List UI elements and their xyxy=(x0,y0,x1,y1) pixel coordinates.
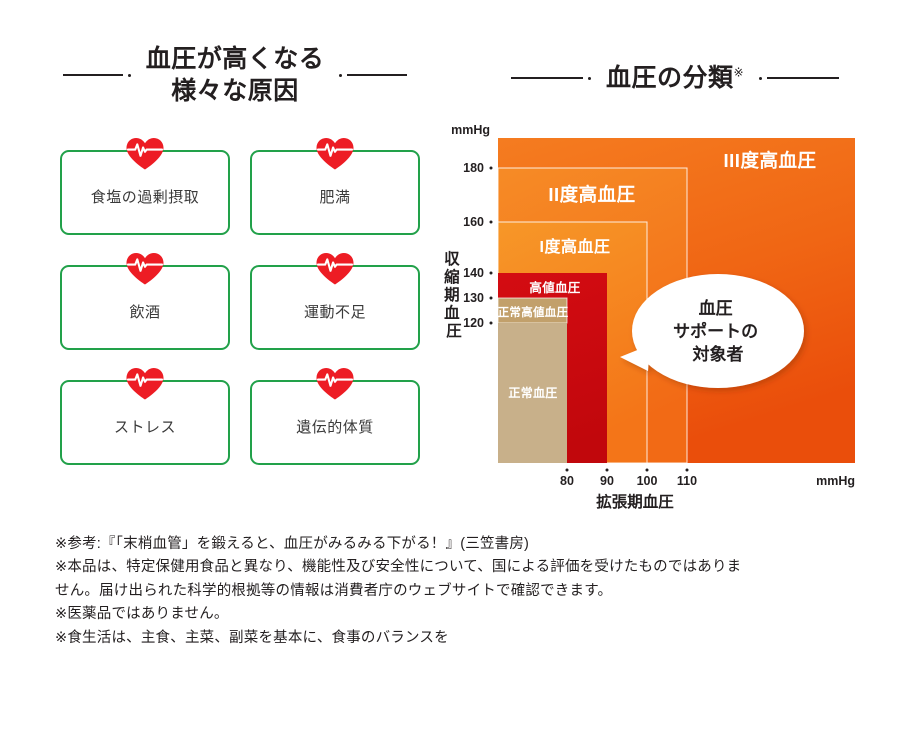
cause-card[interactable]: 食塩の過剰摂取 xyxy=(60,150,230,235)
y-tick-140: 140 xyxy=(463,266,484,280)
cause-label: 食塩の過剰摂取 xyxy=(91,186,200,207)
heading-classification-label: 血圧の分類 xyxy=(606,64,734,92)
footnote-line: ※本品は、特定保健用食品と異なり、機能性及び安全性について、国による評価を受けた… xyxy=(55,556,875,579)
cause-label: 肥満 xyxy=(319,186,350,207)
y-tick-160: 160 xyxy=(463,215,484,229)
band-label-normal: 正常血圧 xyxy=(508,385,557,400)
heart-pulse-icon xyxy=(314,366,356,400)
heart-pulse-icon xyxy=(124,136,166,170)
blood-pressure-classification-chart: III度高血圧 II度高血圧 I度高血圧 高値血圧 正常高値血圧 正常血圧 mm… xyxy=(440,125,900,520)
cause-label: 飲酒 xyxy=(129,301,160,322)
x-tick-dot xyxy=(686,469,689,472)
footnote-line: ※食生活は、主食、主菜、副菜を基本に、食事のバランスを xyxy=(55,627,875,650)
heading-dot-left xyxy=(128,74,131,77)
cause-card[interactable]: 遺伝的体質 xyxy=(250,380,420,465)
cause-card[interactable]: 肥満 xyxy=(250,150,420,235)
cause-label: 遺伝的体質 xyxy=(296,416,374,437)
y-tick-dot xyxy=(490,272,493,275)
causes-grid: 食塩の過剰摂取 肥満 飲酒 運動不足 xyxy=(60,150,420,465)
heading-reference-mark: ※ xyxy=(733,65,744,79)
heading-causes: 血圧が高くなる 様々な原因 xyxy=(20,38,450,112)
x-tick-dot xyxy=(606,469,609,472)
band-label-high-normal-high: 高値血圧 xyxy=(529,280,580,295)
y-axis-unit: mmHg xyxy=(451,125,490,137)
y-tick-dot xyxy=(490,322,493,325)
cause-card[interactable]: ストレス xyxy=(60,380,230,465)
band-label-elevated: 正常高値血圧 xyxy=(498,305,569,319)
y-tick-130: 130 xyxy=(463,291,484,305)
footnote-line: せん。届け出られた科学的根拠等の情報は消費者庁のウェブサイトで確認できます。 xyxy=(55,580,875,603)
x-tick-100: 100 xyxy=(637,474,658,488)
y-tick-180: 180 xyxy=(463,161,484,175)
heading-causes-text: 血圧が高くなる 様々な原因 xyxy=(136,43,335,108)
cause-label: ストレス xyxy=(114,416,176,437)
footnote-line: ※参考:『「末梢血管」を鍛えると、血圧がみるみる下がる！』(三笠書房) xyxy=(55,533,875,556)
cause-card[interactable]: 飲酒 xyxy=(60,265,230,350)
headings-row: 血圧が高くなる 様々な原因 血圧の分類※ xyxy=(0,0,900,120)
footnotes: ※参考:『「末梢血管」を鍛えると、血圧がみるみる下がる！』(三笠書房) ※本品は… xyxy=(55,533,875,650)
heading-dot-right xyxy=(759,77,762,80)
x-tick-dot xyxy=(566,469,569,472)
x-tick-110: 110 xyxy=(677,474,697,488)
y-tick-120: 120 xyxy=(463,316,484,330)
heading-classification-text: 血圧の分類※ xyxy=(596,62,754,95)
band-label-grade3: III度高血圧 xyxy=(724,150,817,171)
heart-pulse-icon xyxy=(314,251,356,285)
cause-card[interactable]: 運動不足 xyxy=(250,265,420,350)
band-label-grade1: I度高血圧 xyxy=(540,237,611,256)
heart-pulse-icon xyxy=(314,136,356,170)
heading-rule-right xyxy=(767,77,839,79)
heart-pulse-icon xyxy=(124,366,166,400)
heading-dot-left xyxy=(588,77,591,80)
heading-rule-left xyxy=(63,74,123,76)
y-tick-dot xyxy=(490,167,493,170)
heading-rule-left xyxy=(511,77,583,79)
footnote-line: ※医薬品ではありません。 xyxy=(55,603,875,626)
heading-classification: 血圧の分類※ xyxy=(455,52,895,104)
x-axis-unit: mmHg xyxy=(816,474,855,488)
heart-pulse-icon xyxy=(124,251,166,285)
heading-rule-right xyxy=(347,74,407,76)
x-tick-80: 80 xyxy=(560,474,574,488)
y-tick-dot xyxy=(490,221,493,224)
y-tick-dot xyxy=(490,297,493,300)
cause-label: 運動不足 xyxy=(304,301,366,322)
band-label-grade2: II度高血圧 xyxy=(548,184,635,205)
y-axis-title: 収 縮 期 血 圧 xyxy=(444,250,464,340)
x-tick-dot xyxy=(646,469,649,472)
heading-dot-right xyxy=(339,74,342,77)
x-tick-90: 90 xyxy=(600,474,614,488)
x-axis-title: 拡張期血圧 xyxy=(596,492,674,511)
